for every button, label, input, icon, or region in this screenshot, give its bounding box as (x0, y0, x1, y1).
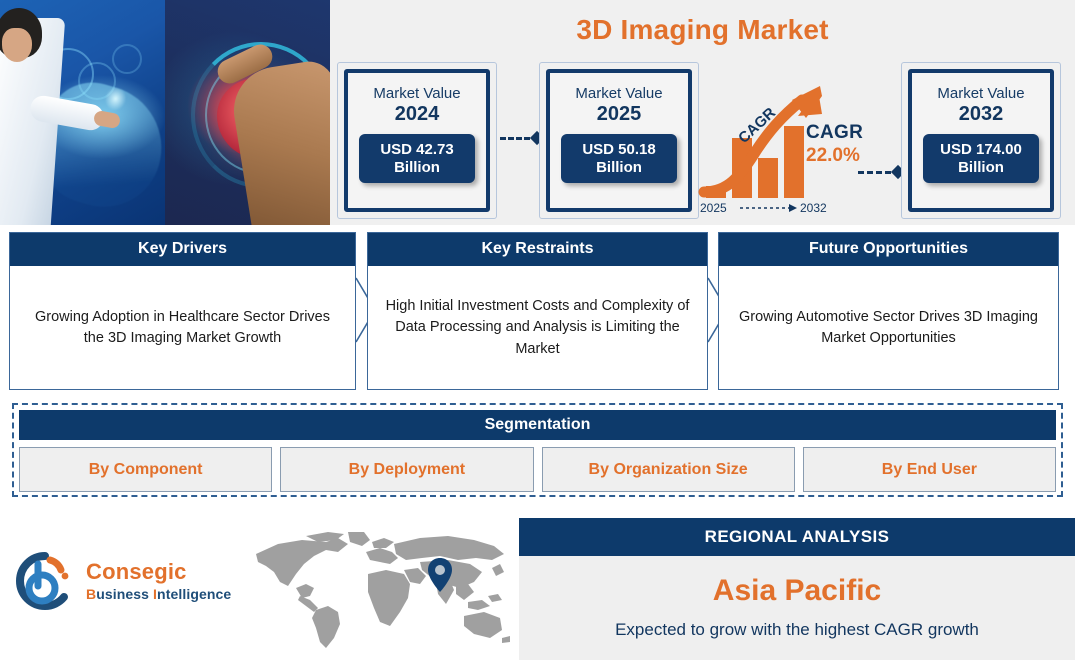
connector-cagr-to-2032 (858, 166, 903, 178)
segmentation-panel: Segmentation By Component By Deployment … (12, 403, 1063, 497)
segment-by-organization-size[interactable]: By Organization Size (542, 447, 795, 492)
key-restraints-heading: Key Restraints (368, 233, 707, 266)
cagr-readout: CAGR 22.0% (806, 122, 863, 167)
market-value-year: 2025 (597, 103, 642, 126)
market-value-card-inner: Market Value 2032 USD 174.00 Billion (908, 69, 1054, 212)
connector-line (500, 137, 530, 140)
market-value-amount: USD 174.00 Billion (923, 134, 1039, 183)
cagr-value: 22.0% (806, 145, 863, 167)
cagr-graphic: CAGR 2025 2032 CAGR 22.0% (698, 80, 873, 215)
cagr-start-year: 2025 (700, 201, 727, 215)
market-value-year: 2024 (395, 103, 440, 126)
segment-by-component[interactable]: By Component (19, 447, 272, 492)
photo-holographic-heart (165, 0, 330, 225)
future-opportunities-body: Growing Automotive Sector Drives 3D Imag… (719, 266, 1058, 390)
connector-line (858, 171, 891, 174)
segment-by-end-user[interactable]: By End User (803, 447, 1056, 492)
key-restraints-box: Key Restraints High Initial Investment C… (367, 232, 708, 390)
segment-by-deployment[interactable]: By Deployment (280, 447, 533, 492)
market-value-amount-number: USD 174.00 (940, 141, 1022, 158)
market-value-row: Market Value 2024 USD 42.73 Billion Mark… (330, 62, 1075, 222)
consegic-logo-icon (14, 550, 76, 612)
regional-analysis-region: Asia Pacific (519, 574, 1075, 608)
doctor-face (2, 28, 32, 62)
market-value-label: Market Value (373, 85, 460, 102)
future-opportunities-heading: Future Opportunities (719, 233, 1058, 266)
market-value-card-2032: Market Value 2032 USD 174.00 Billion (901, 62, 1061, 219)
market-value-card-inner: Market Value 2024 USD 42.73 Billion (344, 69, 490, 212)
world-map (252, 530, 514, 650)
market-value-amount-unit: Billion (958, 159, 1004, 176)
cagr-end-year: 2032 (800, 201, 827, 215)
market-value-amount-number: USD 42.73 (380, 141, 453, 158)
market-value-card-2025: Market Value 2025 USD 50.18 Billion (539, 62, 699, 219)
header-content: 3D Imaging Market Market Value 2024 USD … (330, 0, 1075, 225)
market-value-label: Market Value (575, 85, 662, 102)
regional-analysis-heading: REGIONAL ANALYSIS (519, 518, 1075, 556)
key-boxes-row: Key Drivers Growing Adoption in Healthca… (0, 232, 1075, 392)
cagr-label: CAGR (806, 122, 863, 144)
market-value-label: Market Value (937, 85, 1024, 102)
segmentation-cells: By Component By Deployment By Organizati… (19, 447, 1056, 492)
brand-tagline-b: B (86, 586, 96, 602)
future-opportunities-box: Future Opportunities Growing Automotive … (718, 232, 1059, 390)
key-drivers-body: Growing Adoption in Healthcare Sector Dr… (10, 266, 355, 390)
brand-logo: Consegic Business Intelligence (14, 550, 231, 612)
regional-analysis-note: Expected to grow with the highest CAGR g… (519, 620, 1075, 640)
brand-tagline-usiness: usiness (96, 586, 153, 602)
brand-name: Consegic (86, 561, 231, 583)
market-value-card-inner: Market Value 2025 USD 50.18 Billion (546, 69, 692, 212)
hand-pointing (228, 58, 330, 225)
key-restraints-body: High Initial Investment Costs and Comple… (368, 266, 707, 390)
page-title: 3D Imaging Market (330, 14, 1075, 46)
market-value-amount-unit: Billion (394, 159, 440, 176)
market-value-amount-number: USD 50.18 (582, 141, 655, 158)
brand-tagline: Business Intelligence (86, 586, 231, 602)
market-value-year: 2032 (959, 103, 1004, 126)
hologram-ring-icon (112, 44, 142, 74)
regional-analysis-panel: REGIONAL ANALYSIS Asia Pacific Expected … (519, 518, 1075, 660)
segmentation-heading: Segmentation (19, 410, 1056, 440)
brand-wordmark: Consegic Business Intelligence (86, 561, 231, 602)
connector-2024-to-2025 (500, 132, 542, 144)
footer-area: Consegic Business Intelligence (0, 512, 1075, 660)
photo-doctor-holographic-scan (0, 0, 165, 225)
key-drivers-heading: Key Drivers (10, 233, 355, 266)
world-map-icon (252, 530, 514, 650)
market-value-card-2024: Market Value 2024 USD 42.73 Billion (337, 62, 497, 219)
brand-tagline-ntelligence: ntelligence (157, 586, 231, 602)
key-drivers-box: Key Drivers Growing Adoption in Healthca… (9, 232, 356, 390)
market-value-amount: USD 50.18 Billion (561, 134, 677, 183)
header-band: 3D Imaging Market Market Value 2024 USD … (0, 0, 1075, 225)
market-value-amount-unit: Billion (596, 159, 642, 176)
market-value-amount: USD 42.73 Billion (359, 134, 475, 183)
photo-strip (0, 0, 330, 225)
